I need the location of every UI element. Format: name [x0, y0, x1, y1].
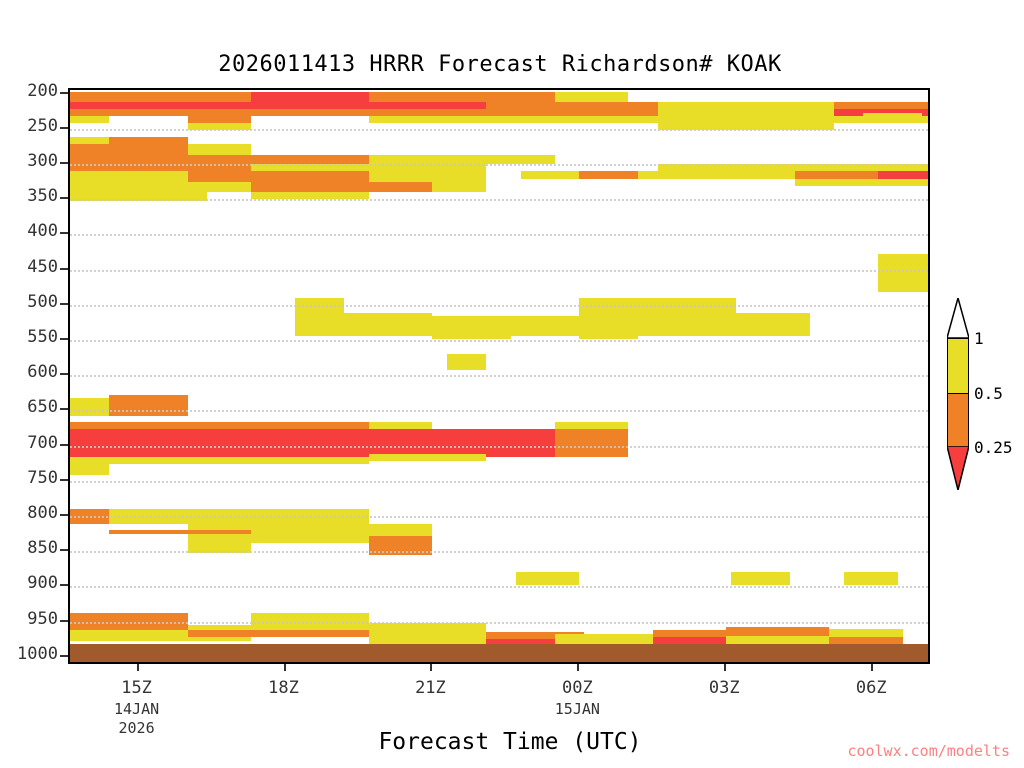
heatmap-cell	[579, 171, 638, 179]
colorbar-bottom-arrow-icon	[947, 446, 969, 490]
y-axis-tick-mark	[60, 584, 68, 586]
y-axis-tick-mark	[60, 197, 68, 199]
watermark-link[interactable]: coolwx.com/modelts	[847, 742, 1010, 760]
gridline	[70, 375, 928, 377]
plot-area[interactable]	[68, 88, 930, 664]
y-axis-tick-mark	[60, 268, 68, 270]
x-axis-tick-mark	[137, 664, 139, 671]
gridline	[70, 586, 928, 588]
y-axis-tick-mark	[60, 127, 68, 129]
heatmap-cell	[109, 102, 187, 109]
heatmap-cell	[369, 422, 433, 429]
heatmap-cell	[70, 155, 251, 163]
heatmap-cell	[344, 313, 432, 336]
y-axis-tick-mark	[60, 303, 68, 305]
heatmap-cell	[70, 398, 109, 416]
heatmap-cell	[109, 171, 187, 182]
y-axis-tick-mark	[60, 162, 68, 164]
heatmap-cell	[70, 116, 109, 123]
heatmap-cell	[70, 429, 432, 457]
heatmap-cell	[893, 102, 930, 109]
gridline	[70, 129, 928, 131]
heatmap-cell	[795, 171, 878, 179]
chart-title: 2026011413 HRRR Forecast Richardson# KOA…	[0, 52, 1000, 77]
x-axis-tick-label: 00Z	[537, 678, 617, 698]
y-axis-tick-mark	[60, 408, 68, 410]
y-axis-tick-label: 350	[0, 186, 58, 206]
heatmap-cell	[638, 298, 736, 337]
y-axis-tick-label: 550	[0, 327, 58, 347]
heatmap-cell	[251, 192, 369, 199]
heatmap-cell	[109, 395, 187, 416]
x-axis-tick-label: 06Z	[831, 678, 911, 698]
heatmap-cell	[70, 422, 251, 429]
heatmap-cell	[70, 92, 251, 102]
x-axis-tick-label: 18Z	[244, 678, 324, 698]
y-axis-tick-label: 200	[0, 81, 58, 101]
x-axis-tick-label: 15Z	[97, 678, 177, 698]
heatmap-cell	[658, 116, 834, 123]
x-axis-title: Forecast Time (UTC)	[250, 729, 770, 755]
heatmap-cell	[109, 109, 187, 116]
colorbar-divider	[948, 393, 968, 394]
heatmap-cell	[188, 116, 252, 123]
heatmap-cell	[432, 92, 554, 102]
gridline	[70, 410, 928, 412]
heatmap-cell	[188, 630, 369, 637]
heatmap-cell	[432, 429, 554, 457]
gridline	[70, 446, 928, 448]
colorbar-segment-orange	[948, 393, 968, 447]
x-axis-tick-mark	[577, 664, 579, 671]
heatmap-cell	[188, 144, 252, 155]
heatmap-cell	[70, 182, 109, 193]
y-axis-tick-mark	[60, 373, 68, 375]
heatmap-cell	[369, 155, 433, 163]
heatmap-cell	[251, 171, 369, 182]
y-axis-tick-label: 450	[0, 257, 58, 277]
heatmap-cell	[109, 182, 187, 193]
heatmap-cell	[70, 137, 109, 144]
y-axis-tick-label: 900	[0, 573, 58, 593]
heatmap-cell	[188, 109, 369, 116]
heatmap-cell	[70, 630, 188, 641]
heatmap-cell	[188, 171, 252, 182]
heatmap-cell	[511, 316, 580, 336]
heatmap-cell	[878, 171, 930, 179]
heatmap-cell	[521, 171, 580, 179]
y-axis-tick-label: 700	[0, 433, 58, 453]
x-axis-date-label: 14JAN 2026	[87, 700, 187, 738]
heatmap-cell	[795, 179, 930, 186]
heatmap-cell	[432, 182, 486, 193]
heatmap-cell	[658, 102, 834, 109]
heatmap-cell	[726, 627, 829, 635]
x-axis-date-label: 15JAN	[527, 700, 627, 719]
heatmap-cell	[447, 354, 486, 369]
heatmap-cell	[432, 316, 510, 339]
heatmap-cell	[109, 137, 187, 144]
colorbar-label-0.5: 0.5	[974, 384, 1003, 403]
gridline	[70, 270, 928, 272]
y-axis-tick-label: 800	[0, 503, 58, 523]
terrain-bar	[70, 644, 928, 662]
gridline	[70, 340, 928, 342]
gridline	[70, 516, 928, 518]
y-axis-tick-label: 600	[0, 362, 58, 382]
heatmap-cell	[70, 457, 109, 475]
gridline	[70, 481, 928, 483]
heatmap-cell	[251, 92, 369, 102]
heatmap-cell	[369, 171, 433, 182]
x-axis-tick-mark	[871, 664, 873, 671]
y-axis-tick-mark	[60, 549, 68, 551]
heatmap-cell	[844, 572, 898, 585]
heatmap-cell	[555, 429, 628, 457]
heatmap-cell	[109, 530, 251, 534]
x-axis-tick-label: 03Z	[684, 678, 764, 698]
heatmap-cell	[555, 92, 628, 102]
y-axis-tick-label: 300	[0, 151, 58, 171]
heatmap-cell	[653, 630, 726, 637]
heatmap-cell	[369, 623, 487, 630]
heatmap-cell	[70, 109, 109, 116]
heatmap-cell	[251, 182, 369, 193]
heatmap-cell	[731, 572, 790, 585]
heatmap-cell	[251, 155, 369, 163]
heatmap-cell	[369, 109, 487, 116]
heatmap-cell	[432, 171, 486, 182]
heatmap-cell	[295, 298, 344, 337]
heatmap-cell	[658, 109, 834, 116]
heatmap-cell	[486, 102, 657, 109]
heatmap-cell	[369, 630, 487, 644]
heatmap-cell	[878, 254, 930, 292]
heatmap-cell	[369, 92, 433, 102]
heatmap-cell	[736, 313, 809, 336]
heatmap-cell	[369, 116, 658, 123]
colorbar[interactable]: 1 0.5 0.25	[940, 298, 976, 482]
y-axis-tick-mark	[60, 338, 68, 340]
heatmap-cell	[369, 182, 433, 193]
heatmap-cell	[638, 171, 795, 179]
gridline	[70, 164, 928, 166]
y-axis-tick-mark	[60, 514, 68, 516]
y-axis-tick-mark	[60, 232, 68, 234]
x-axis-tick-label: 21Z	[390, 678, 470, 698]
colorbar-body	[947, 338, 969, 448]
y-axis-tick-mark	[60, 444, 68, 446]
colorbar-top-arrow-icon	[947, 298, 969, 338]
heatmap-cell	[432, 155, 554, 163]
y-axis-tick-mark	[60, 655, 68, 657]
x-axis-tick-mark	[284, 664, 286, 671]
gridline	[70, 622, 928, 624]
heatmap-cell	[555, 634, 653, 644]
heatmap-cell	[863, 113, 922, 121]
y-axis-tick-mark	[60, 479, 68, 481]
y-axis-tick-label: 400	[0, 221, 58, 241]
heatmap-cell	[188, 182, 252, 193]
heatmap-cell	[555, 422, 628, 429]
y-axis-tick-label: 500	[0, 292, 58, 312]
colorbar-segment-yellow	[948, 339, 968, 393]
y-axis-tick-label: 1000	[0, 644, 58, 664]
heatmap-cell	[486, 109, 657, 116]
heatmap-cell	[829, 629, 902, 637]
colorbar-label-1: 1	[974, 329, 984, 348]
y-axis-tick-label: 250	[0, 116, 58, 136]
gridline	[70, 234, 928, 236]
y-axis-tick-label: 950	[0, 609, 58, 629]
heatmap-cell	[70, 102, 109, 109]
heatmap-cell	[251, 422, 369, 429]
y-axis-tick-mark	[60, 92, 68, 94]
heatmap-cell	[251, 509, 369, 543]
heatmap-cell	[109, 457, 369, 464]
heatmap-cell	[188, 102, 369, 109]
heatmap-cell	[70, 144, 109, 155]
gridline	[70, 305, 928, 307]
colorbar-label-0.25: 0.25	[974, 438, 1013, 457]
heatmap-cell	[834, 102, 893, 109]
heatmap-cell	[516, 572, 580, 585]
heatmap-cell	[369, 524, 433, 535]
heatmap-cell	[70, 171, 109, 182]
y-axis-tick-label: 850	[0, 538, 58, 558]
heatmap-cell	[726, 636, 829, 644]
y-axis-tick-label: 650	[0, 397, 58, 417]
x-axis-tick-mark	[430, 664, 432, 671]
y-axis-tick-label: 750	[0, 468, 58, 488]
x-axis-tick-mark	[724, 664, 726, 671]
gridline	[70, 551, 928, 553]
heatmap-cell	[369, 454, 487, 461]
chart-canvas: 2026011413 HRRR Forecast Richardson# KOA…	[0, 0, 1024, 768]
heatmap-cell	[109, 144, 187, 155]
heatmap-cell	[369, 102, 487, 109]
gridline	[70, 199, 928, 201]
y-axis-tick-mark	[60, 620, 68, 622]
